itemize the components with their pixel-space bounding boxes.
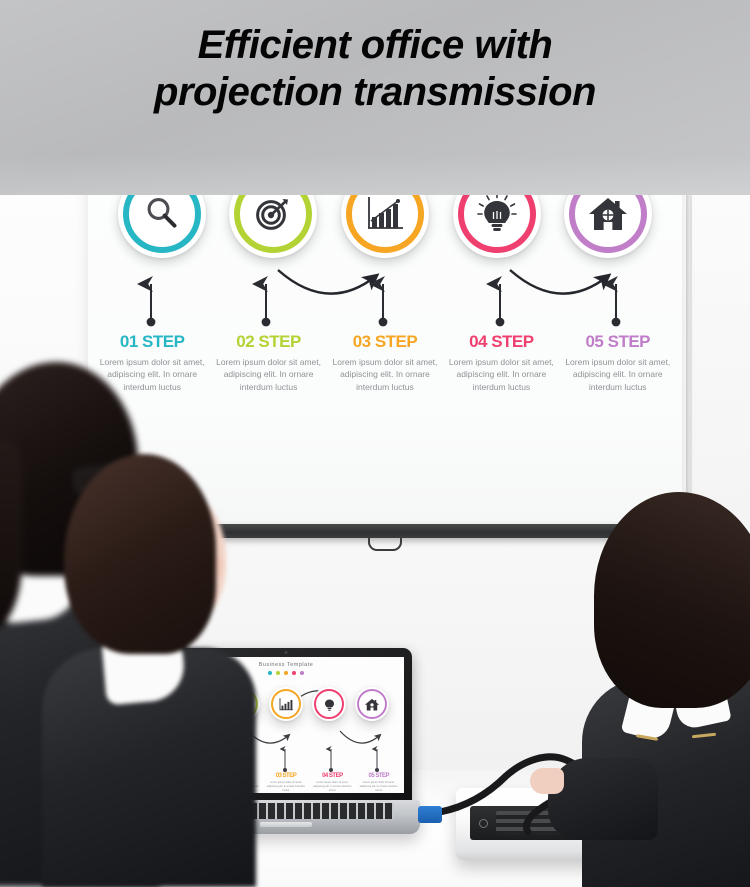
page-title: Efficient office with projection transmi… xyxy=(0,22,750,116)
laptop-step-4-heading: 04 STEP xyxy=(310,773,354,779)
person-woman-right xyxy=(588,500,750,887)
webcam-icon xyxy=(285,651,288,654)
house-icon xyxy=(364,697,380,712)
color-dot-5 xyxy=(300,671,304,675)
lightbulb-icon xyxy=(322,696,337,712)
laptop-step-5-heading: 05 STEP xyxy=(357,773,401,779)
step-label-2: 02 STEP Lorem ipsum dolor sit amet, adip… xyxy=(213,332,325,393)
title-banner: Efficient office with projection transmi… xyxy=(0,0,750,195)
step-4-body: Lorem ipsum dolor sit amet, adipiscing e… xyxy=(445,356,557,393)
laptop-step-circle-4 xyxy=(312,687,346,721)
bar-chart-icon xyxy=(278,697,294,712)
step-3-body: Lorem ipsum dolor sit amet, adipiscing e… xyxy=(329,356,441,393)
screen-step-labels: 01 STEP Lorem ipsum dolor sit amet, adip… xyxy=(88,332,682,393)
laptop-step-label-5: 05 STEP Lorem ipsum dolor sit amet, adip… xyxy=(357,773,401,793)
color-dot-1 xyxy=(268,671,272,675)
laptop-step-3-body: Lorem ipsum dolor sit amet, adipiscing e… xyxy=(264,781,308,793)
lightbulb-icon xyxy=(477,193,517,235)
person-woman-center-left xyxy=(60,460,240,887)
step-label-5: 05 STEP Lorem ipsum dolor sit amet, adip… xyxy=(562,332,674,393)
laptop-vga-plug xyxy=(418,806,442,823)
step-5-heading: 05 STEP xyxy=(562,332,674,352)
step-label-4: 04 STEP Lorem ipsum dolor sit amet, adip… xyxy=(445,332,557,393)
laptop-step-circle-3 xyxy=(269,687,303,721)
magnifier-icon xyxy=(142,194,182,234)
laptop-step-label-4: 04 STEP Lorem ipsum dolor sit amet, adip… xyxy=(310,773,354,793)
color-dot-2 xyxy=(276,671,280,675)
laptop-trackpad[interactable] xyxy=(260,822,312,827)
scene: 01 STEP Lorem ipsum dolor sit amet, adip… xyxy=(0,0,750,887)
color-dot-4 xyxy=(292,671,296,675)
step-2-heading: 02 STEP xyxy=(213,332,325,352)
person-b-hair xyxy=(64,454,216,654)
bar-chart-icon xyxy=(364,194,406,234)
step-2-body: Lorem ipsum dolor sit amet, adipiscing e… xyxy=(213,356,325,393)
step-4-heading: 04 STEP xyxy=(445,332,557,352)
house-icon xyxy=(587,194,629,234)
power-button-icon[interactable] xyxy=(479,819,488,828)
person-c-hand xyxy=(530,768,564,794)
laptop-step-label-3: 03 STEP Lorem ipsum dolor sit amet, adip… xyxy=(264,773,308,793)
laptop-step-4-body: Lorem ipsum dolor sit amet, adipiscing e… xyxy=(310,781,354,793)
laptop-step-3-heading: 03 STEP xyxy=(264,773,308,779)
step-5-body: Lorem ipsum dolor sit amet, adipiscing e… xyxy=(562,356,674,393)
screen-pull-handle[interactable] xyxy=(368,536,402,551)
laptop-step-circle-5 xyxy=(355,687,389,721)
person-c-hair xyxy=(594,492,750,708)
color-dot-3 xyxy=(284,671,288,675)
step-3-heading: 03 STEP xyxy=(329,332,441,352)
step-1-heading: 01 STEP xyxy=(96,332,208,352)
target-icon xyxy=(252,193,294,235)
step-label-3: 03 STEP Lorem ipsum dolor sit amet, adip… xyxy=(329,332,441,393)
laptop-step-5-body: Lorem ipsum dolor sit amet, adipiscing e… xyxy=(357,781,401,793)
person-c-arm xyxy=(548,758,658,840)
